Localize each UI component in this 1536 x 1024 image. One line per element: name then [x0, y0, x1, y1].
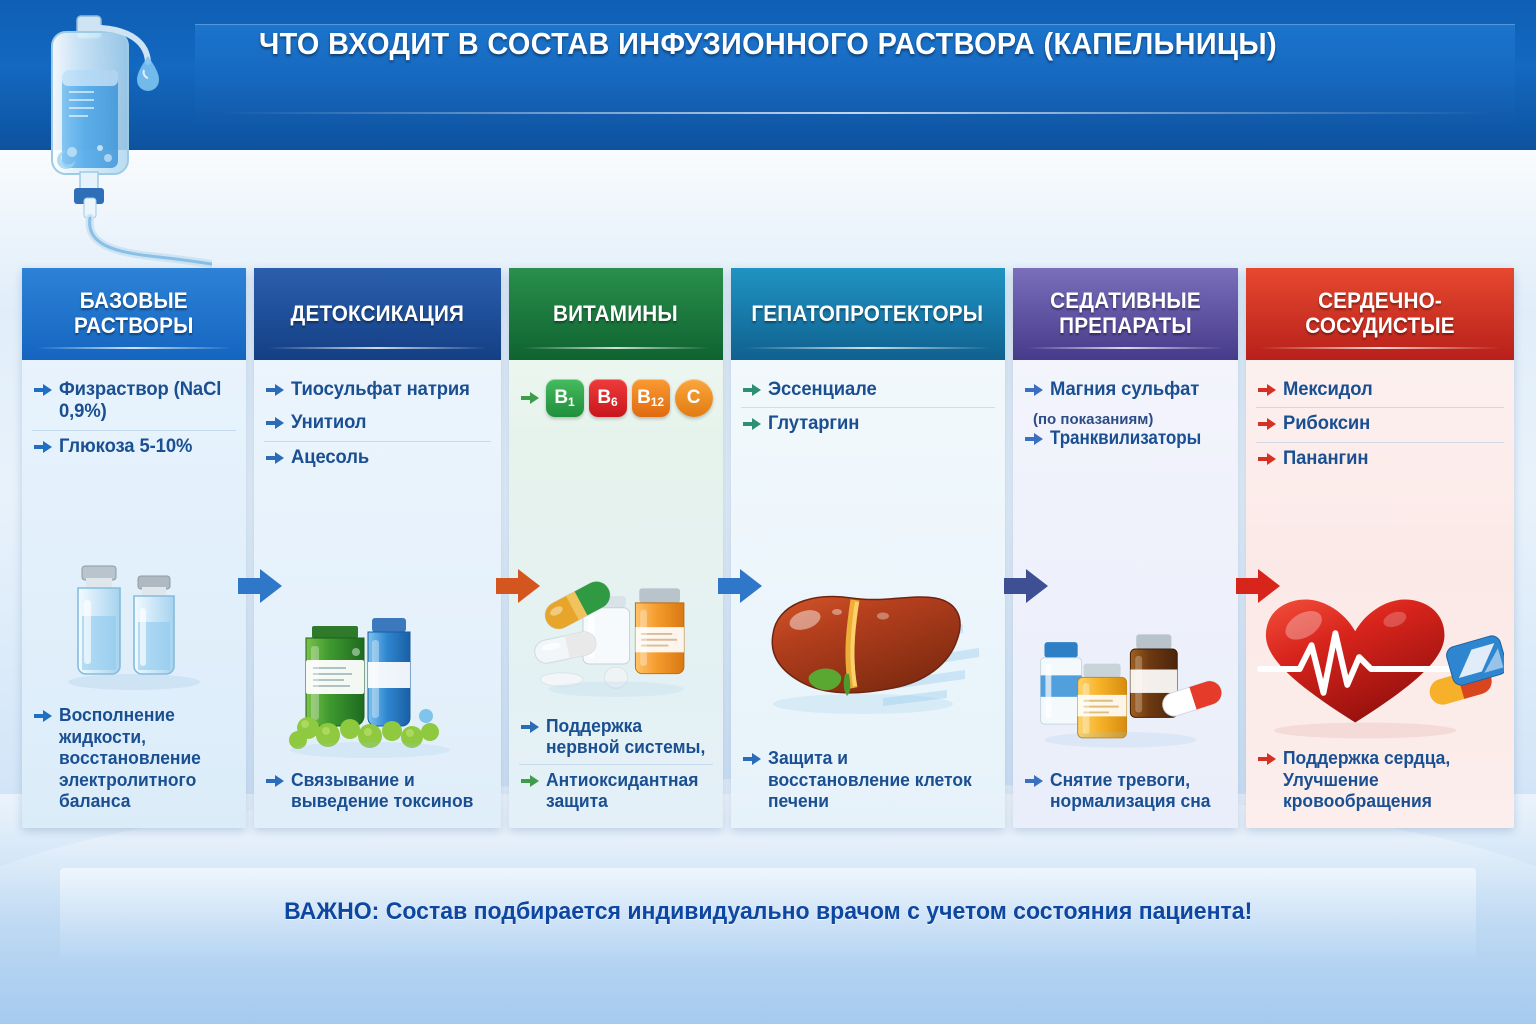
arrow-right-icon: [1025, 431, 1043, 447]
category-columns: БАЗОВЫЕ РАСТВОРЫ Физраствор (NaCl 0,9%) …: [22, 268, 1514, 828]
column-cardiovascular[interactable]: СЕРДЕЧНО-СОСУДИСТЫЕ Мексидол Рибоксин: [1246, 268, 1514, 828]
arrow-right-icon: [743, 416, 761, 432]
list-item[interactable]: Глутаргин: [741, 407, 995, 441]
arrow-right-icon: [1258, 751, 1276, 767]
vitamin-badge-b6[interactable]: B6: [589, 379, 627, 417]
vitamin-badge-c[interactable]: C: [675, 379, 713, 417]
detox-bottles-icon: [264, 475, 491, 765]
list-item[interactable]: Поддержка нервной системы,: [519, 711, 713, 764]
arrow-right-icon: [743, 382, 761, 398]
item-list: Тиосульфат натрия Унитиол Ацесоль: [264, 374, 491, 475]
list-item[interactable]: Эссенциале: [741, 374, 995, 407]
item-list: B1 B6 B12 C: [519, 374, 713, 423]
list-item[interactable]: Магния сульфат: [1023, 374, 1228, 407]
pills-capsules-icon: [519, 423, 713, 711]
saline-vials-icon: [32, 464, 236, 700]
list-item[interactable]: Поддержка сердца, Улучшение кровообращен…: [1256, 743, 1504, 818]
list-item[interactable]: Антиоксидантная защита: [519, 764, 713, 818]
column-sedatives[interactable]: СЕДАТИВНЫЕ ПРЕПАРАТЫ Магния сульфат (по …: [1013, 268, 1238, 828]
arrow-right-icon: [521, 390, 539, 406]
page-title: ЧТО ВХОДИТ В СОСТАВ ИНФУЗИОННОГО РАСТВОР…: [54, 26, 1482, 62]
list-item[interactable]: Унитиол: [264, 407, 491, 440]
benefit-list: Связывание и выведение токсинов: [264, 765, 491, 818]
arrow-right-icon: [266, 415, 284, 431]
column-hepatoprotectors[interactable]: ГЕПАТОПРОТЕКТОРЫ Эссенциале Глутаргин: [731, 268, 1005, 828]
list-item[interactable]: Глюкоза 5-10%: [32, 430, 236, 464]
benefit-list: Поддержка сердца, Улучшение кровообращен…: [1256, 743, 1504, 818]
column-header-sedatives: СЕДАТИВНЫЕ ПРЕПАРАТЫ: [1013, 268, 1238, 360]
arrow-right-icon: [743, 751, 761, 767]
item-list: Мексидол Рибоксин Панангин: [1256, 374, 1504, 476]
arrow-right-icon: [521, 773, 539, 789]
column-header-cardiovascular: СЕРДЕЧНО-СОСУДИСТЫЕ: [1246, 268, 1514, 360]
item-list: Магния сульфат (по показаниям) Транквили…: [1023, 374, 1228, 457]
list-item[interactable]: Панангин: [1256, 442, 1504, 476]
item-list: Эссенциале Глутаргин: [741, 374, 995, 442]
vitamin-badge-b12[interactable]: B12: [632, 379, 670, 417]
vitamin-badge-b1[interactable]: B1: [546, 379, 584, 417]
column-header-hepatoprotectors: ГЕПАТОПРОТЕКТОРЫ: [731, 268, 1005, 360]
heart-pulse-icon: [1256, 476, 1504, 743]
list-item[interactable]: Физраствор (NaCl 0,9%): [32, 374, 236, 430]
list-item[interactable]: Транквилизаторы: [1023, 428, 1228, 456]
list-item[interactable]: Защита и восстановление клеток печени: [741, 743, 995, 818]
column-base-solutions[interactable]: БАЗОВЫЕ РАСТВОРЫ Физраствор (NaCl 0,9%) …: [22, 268, 246, 828]
arrow-right-icon: [34, 382, 52, 398]
list-item[interactable]: Ацесоль: [264, 441, 491, 475]
arrow-right-icon: [34, 439, 52, 455]
list-item[interactable]: Снятие тревоги, нормализация сна: [1023, 765, 1228, 818]
item-list: Физраствор (NaCl 0,9%) Глюкоза 5-10%: [32, 374, 236, 464]
column-header-base-solutions: БАЗОВЫЕ РАСТВОРЫ: [22, 268, 246, 360]
arrow-right-icon: [521, 719, 539, 735]
arrow-right-icon: [1258, 451, 1276, 467]
arrow-right-icon: [1025, 773, 1043, 789]
liver-icon: [741, 442, 995, 743]
list-item[interactable]: Восполнение жидкости, восстановление эле…: [32, 700, 236, 818]
arrow-right-icon: [1258, 382, 1276, 398]
benefit-list: Поддержка нервной системы, Антиоксидантн…: [519, 711, 713, 818]
list-item[interactable]: Мексидол: [1256, 374, 1504, 407]
arrow-right-icon: [34, 708, 52, 724]
list-item[interactable]: Рибоксин: [1256, 407, 1504, 441]
iv-drip-bag-icon: [22, 8, 212, 268]
footer: ВАЖНО: Состав подбирается индивидуально …: [0, 880, 1536, 944]
benefit-list: Снятие тревоги, нормализация сна: [1023, 765, 1228, 818]
column-header-detoxification: ДЕТОКСИКАЦИЯ: [254, 268, 501, 360]
list-item[interactable]: Связывание и выведение токсинов: [264, 765, 491, 818]
arrow-right-icon: [266, 773, 284, 789]
footer-note: ВАЖНО: Состав подбирается индивидуально …: [284, 898, 1252, 926]
sedatives-note: (по показаниям): [1023, 407, 1228, 428]
benefit-list: Защита и восстановление клеток печени: [741, 743, 995, 818]
arrow-right-icon: [266, 382, 284, 398]
column-detoxification[interactable]: ДЕТОКСИКАЦИЯ Тиосульфат натрия Унитиол: [254, 268, 501, 828]
medicine-bottles-icon: [1023, 457, 1228, 765]
arrow-right-icon: [1025, 382, 1043, 398]
vitamin-badges-row[interactable]: B1 B6 B12 C: [519, 374, 713, 423]
benefit-list: Восполнение жидкости, восстановление эле…: [32, 700, 236, 818]
list-item[interactable]: Тиосульфат натрия: [264, 374, 491, 407]
arrow-right-icon: [266, 450, 284, 466]
arrow-right-icon: [1258, 416, 1276, 432]
column-header-vitamins: ВИТАМИНЫ: [509, 268, 723, 360]
column-vitamins[interactable]: ВИТАМИНЫ B1 B6 B12: [509, 268, 723, 828]
